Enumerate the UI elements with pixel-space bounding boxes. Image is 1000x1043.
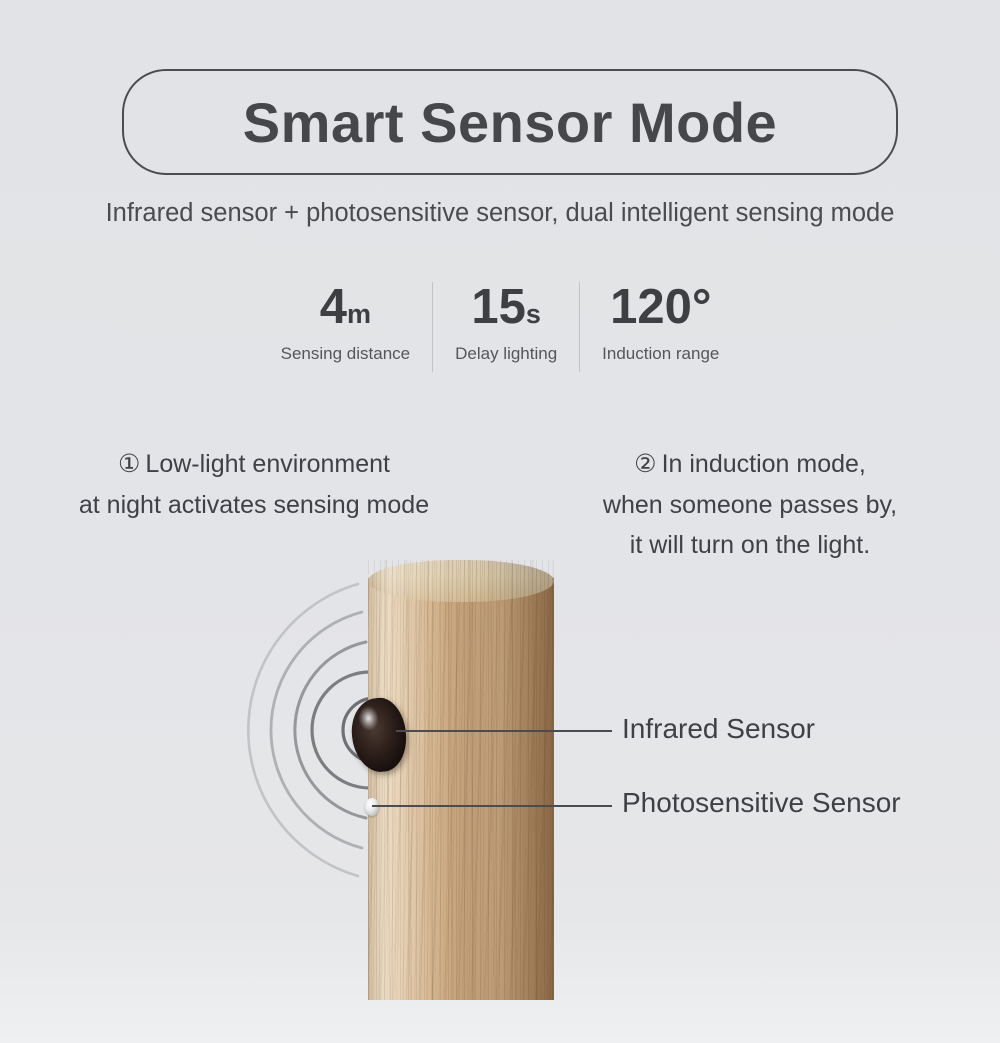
- note-line: when someone passes by,: [524, 485, 976, 526]
- circled-number-1: ①: [118, 450, 145, 478]
- page-title: Smart Sensor Mode: [124, 71, 896, 173]
- note-induction: ②In induction mode, when someone passes …: [524, 444, 976, 566]
- title-box: Smart Sensor Mode: [122, 69, 898, 175]
- stat-label: Delay lighting: [455, 344, 557, 364]
- circled-number-2: ②: [634, 450, 661, 478]
- note-line: ①Low-light environment: [28, 444, 480, 485]
- stats-row: 4m Sensing distance 15s Delay lighting 1…: [0, 280, 1000, 372]
- cylinder-top-cap: [368, 560, 554, 602]
- stat-value: 120°: [610, 280, 711, 335]
- note-line: at night activates sensing mode: [28, 485, 480, 526]
- stat-value: 15s: [471, 280, 541, 335]
- page-subtitle: Infrared sensor + photosensitive sensor,…: [0, 199, 1000, 228]
- callout-infrared-sensor: Infrared Sensor: [622, 713, 815, 745]
- leader-line-infrared: [396, 730, 612, 732]
- note-line: it will turn on the light.: [524, 525, 976, 566]
- stat-value: 4m: [320, 280, 371, 335]
- callout-photosensitive-sensor: Photosensitive Sensor: [622, 787, 901, 819]
- product-image-wooden-lamp: [368, 560, 554, 1000]
- stat-label: Sensing distance: [281, 344, 410, 364]
- stat-sensing-distance: 4m Sensing distance: [259, 280, 432, 364]
- photosensitive-sensor-dot: [365, 798, 379, 816]
- note-low-light: ①Low-light environment at night activate…: [28, 444, 480, 525]
- cylinder-body: [368, 578, 554, 1000]
- infographic-page: Smart Sensor Mode Infrared sensor + phot…: [0, 0, 1000, 1043]
- leader-line-photosensitive: [372, 805, 612, 807]
- stat-delay-lighting: 15s Delay lighting: [433, 280, 579, 364]
- stat-label: Induction range: [602, 344, 719, 364]
- stat-induction-range: 120° Induction range: [580, 280, 741, 364]
- note-line: ②In induction mode,: [524, 444, 976, 485]
